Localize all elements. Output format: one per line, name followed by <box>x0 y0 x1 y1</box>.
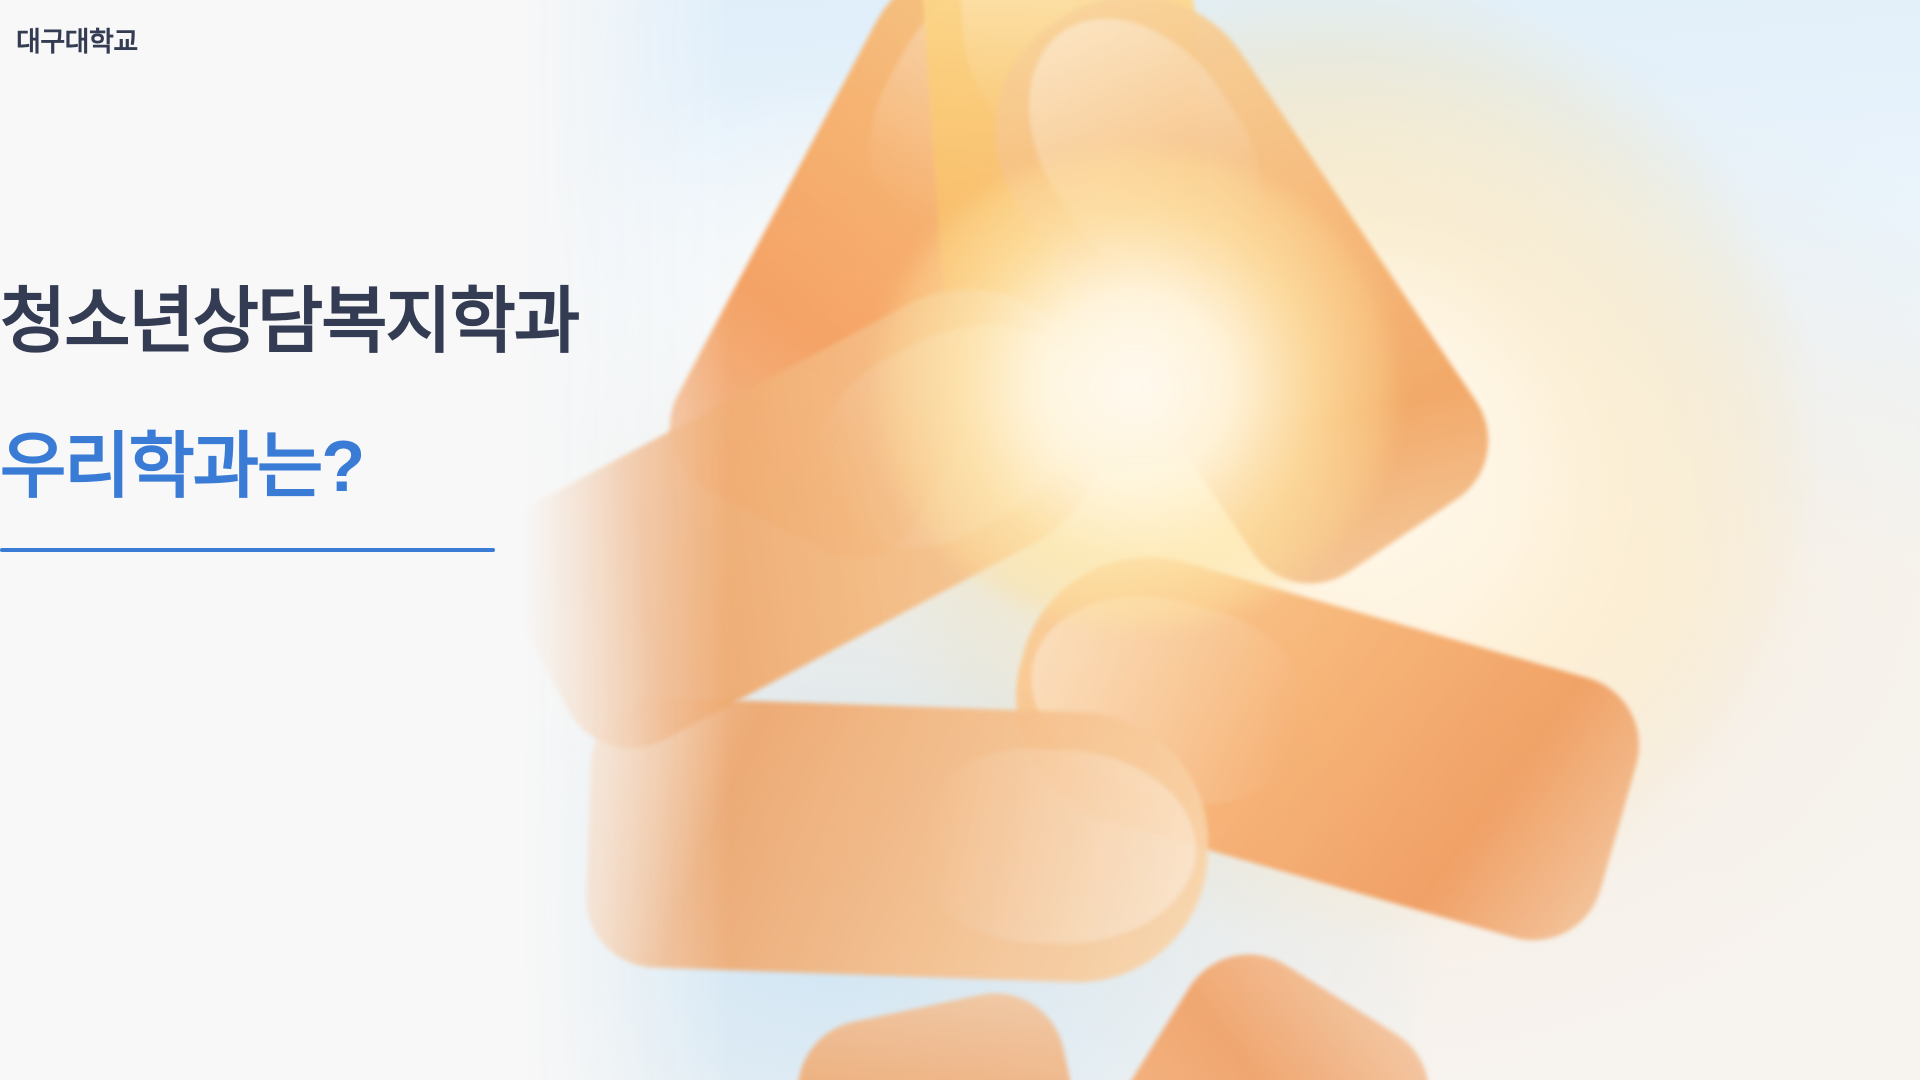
presentation-slide: 대구대학교 청소년상담복지학과 우리학과는? <box>0 0 1920 1080</box>
hand-shape <box>785 980 1178 1080</box>
title-underline <box>0 548 495 552</box>
department-title: 청소년상담복지학과 <box>0 280 760 365</box>
hand-shape <box>584 695 1213 986</box>
headline-block: 청소년상담복지학과 우리학과는? <box>0 280 760 552</box>
university-logo: 대구대학교 <box>16 20 138 59</box>
subtitle-question: 우리학과는? <box>0 425 760 510</box>
